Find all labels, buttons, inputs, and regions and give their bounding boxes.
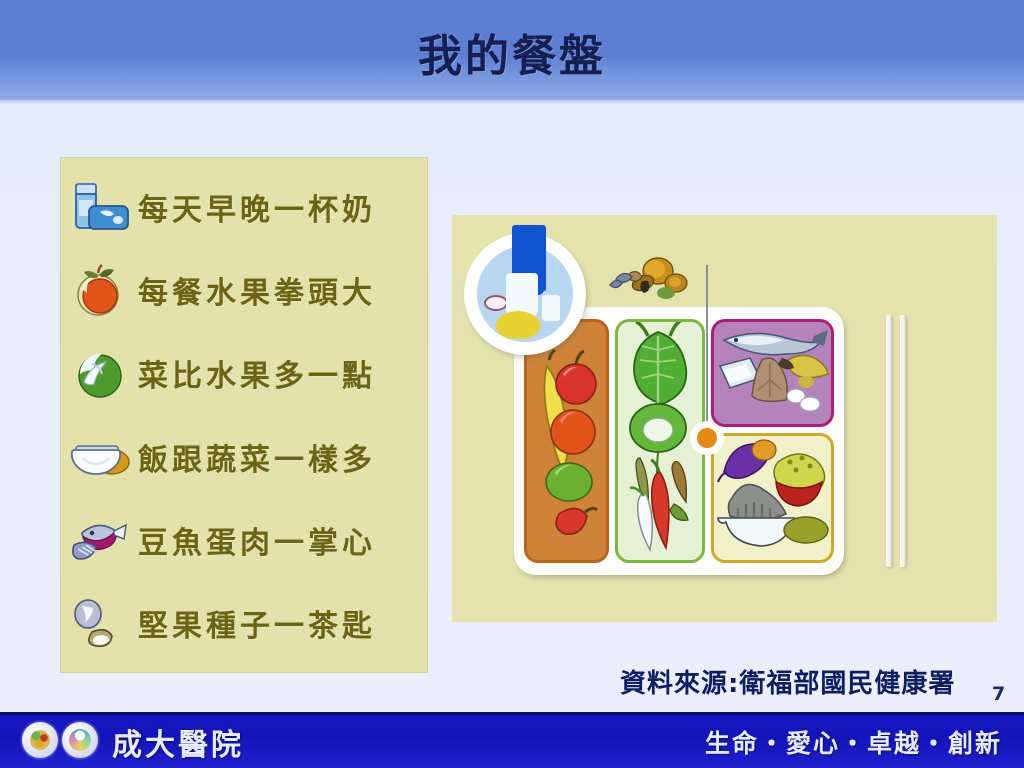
list-item-label: 每天早晚一杯奶 bbox=[138, 185, 376, 229]
chopsticks-pair bbox=[884, 315, 910, 567]
plate-center-hub bbox=[690, 421, 724, 455]
fish-meat-icon bbox=[68, 509, 138, 571]
chopstick bbox=[900, 315, 906, 567]
page-number: 7 bbox=[992, 683, 1005, 705]
orange-fruit-icon bbox=[68, 259, 138, 321]
food-tray bbox=[514, 307, 844, 575]
nut-connector-line bbox=[706, 265, 708, 425]
list-item: 豆魚蛋肉一掌心 bbox=[60, 504, 428, 576]
source-attribution: 資料來源:衛福部國民健康署 bbox=[620, 663, 955, 700]
list-item: 每天早晚一杯奶 bbox=[60, 171, 428, 243]
rice-bowl-icon bbox=[68, 426, 138, 488]
list-item-label: 飯跟蔬菜一樣多 bbox=[138, 435, 376, 479]
list-item: 每餐水果拳頭大 bbox=[60, 254, 428, 326]
list-item: 堅果種子一茶匙 bbox=[60, 587, 428, 659]
guidelines-panel: 每天早晚一杯奶 每餐水果拳頭大 bbox=[60, 157, 428, 673]
list-item-label: 菜比水果多一點 bbox=[138, 351, 376, 395]
cheese-ring-icon bbox=[484, 295, 508, 311]
fruit-compartment bbox=[524, 319, 609, 563]
footer-divider bbox=[0, 712, 1024, 715]
list-item-label: 每餐水果拳頭大 bbox=[138, 268, 376, 312]
grain-compartment bbox=[711, 433, 834, 563]
ncku-emblem-icon bbox=[62, 722, 98, 758]
list-item-label: 堅果種子一茶匙 bbox=[138, 601, 376, 645]
yogurt-blob-icon bbox=[496, 311, 540, 339]
protein-compartment bbox=[711, 319, 834, 427]
slide-root: 我的餐盤 每天早晚一杯奶 bbox=[0, 0, 1024, 768]
list-item: 飯跟蔬菜一樣多 bbox=[60, 421, 428, 493]
chopstick bbox=[886, 315, 892, 567]
footer-brand-name: 成大醫院 bbox=[112, 720, 244, 764]
nuts-seeds-icon bbox=[68, 592, 138, 654]
list-item: 菜比水果多一點 bbox=[60, 337, 428, 409]
my-plate-illustration bbox=[452, 215, 997, 622]
page-title: 我的餐盤 bbox=[0, 20, 1024, 84]
milk-bottle-icon bbox=[68, 176, 138, 238]
list-item-label: 豆魚蛋肉一掌心 bbox=[138, 518, 376, 562]
footer-slogan: 生命・愛心・卓越・創新 bbox=[705, 724, 1002, 760]
cheese-wedge-icon bbox=[542, 295, 560, 321]
nuts-cluster bbox=[602, 255, 702, 313]
hospital-emblem-icon bbox=[22, 722, 58, 758]
cabbage-vegetable-icon bbox=[68, 342, 138, 404]
guidelines-list: 每天早晚一杯奶 每餐水果拳頭大 bbox=[60, 165, 428, 665]
dairy-side-plate bbox=[464, 233, 586, 355]
